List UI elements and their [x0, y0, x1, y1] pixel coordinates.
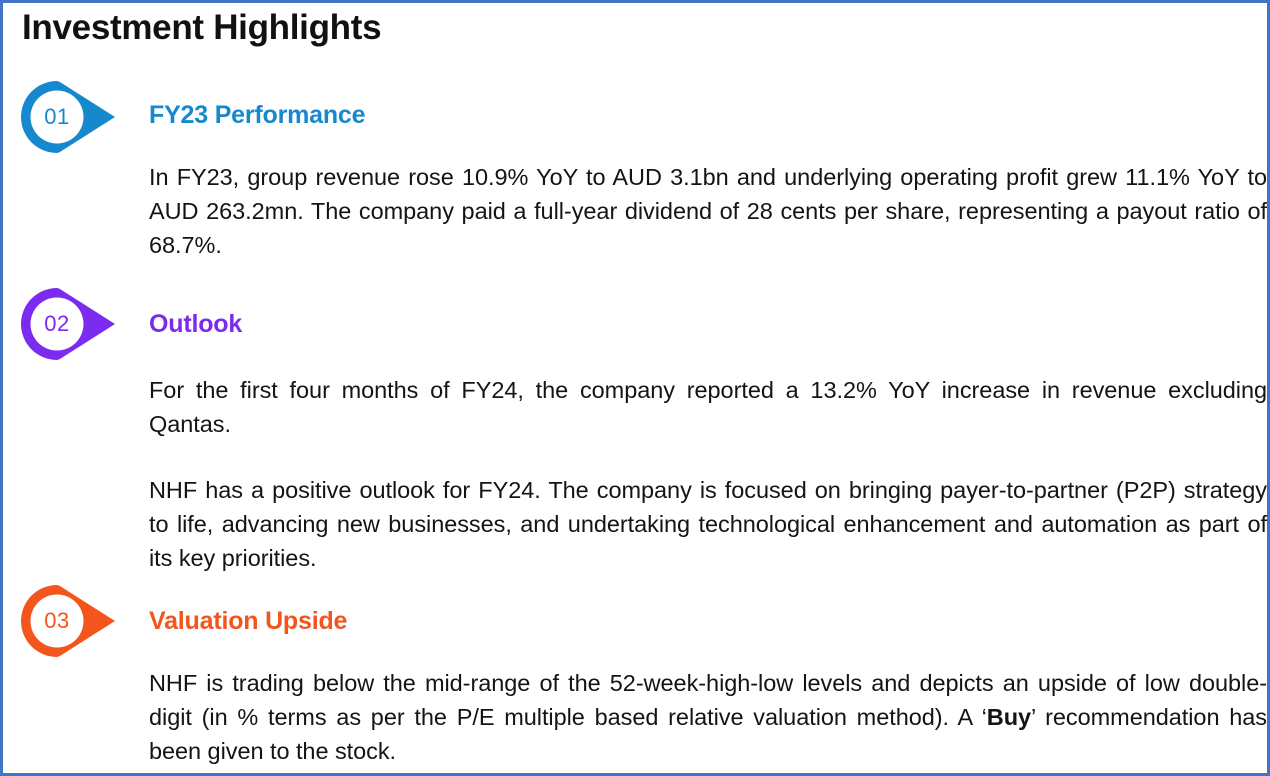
paragraph: NHF is trading below the mid-range of th… [149, 666, 1267, 768]
page-title: Investment Highlights [22, 8, 381, 48]
step-number-01: 01 [25, 80, 89, 154]
section-heading-01: FY23 Performance [149, 101, 365, 130]
section-body-03: NHF is trading below the mid-range of th… [149, 666, 1267, 768]
section-body-01: In FY23, group revenue rose 10.9% YoY to… [149, 160, 1267, 262]
paragraph: In FY23, group revenue rose 10.9% YoY to… [149, 160, 1267, 262]
paragraph: NHF has a positive outlook for FY24. The… [149, 473, 1267, 575]
investment-highlights-slide: Investment Highlights 01 FY23 Performanc… [0, 0, 1270, 776]
step-number-02: 02 [25, 287, 89, 361]
step-number-03: 03 [25, 584, 89, 658]
section-body-02: For the first four months of FY24, the c… [149, 373, 1267, 575]
step-badge-02: 02 [15, 287, 127, 361]
section-heading-03: Valuation Upside [149, 607, 347, 636]
section-heading-02: Outlook [149, 310, 242, 339]
step-badge-01: 01 [15, 80, 127, 154]
step-badge-03: 03 [15, 584, 127, 658]
paragraph: For the first four months of FY24, the c… [149, 373, 1267, 441]
